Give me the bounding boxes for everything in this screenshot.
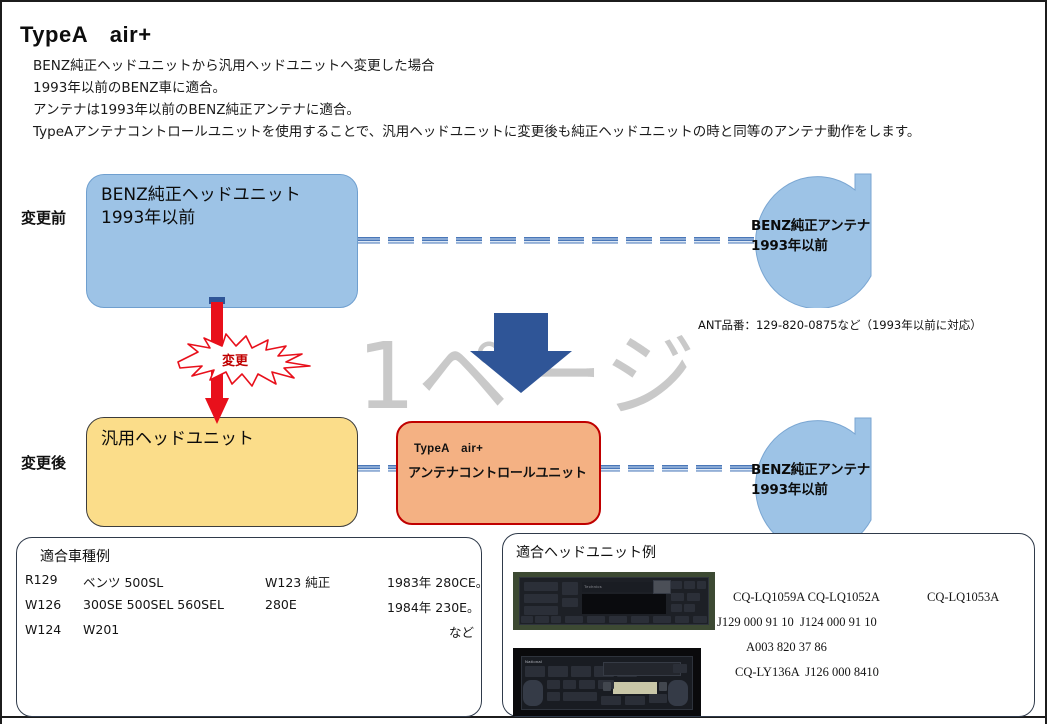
antenna-shape-bottom[interactable]: BENZ純正アンテナ 1993年以前 [735, 412, 885, 552]
car-cell-oem: W123 純正 [265, 572, 330, 591]
table-row: R129 ベンツ 500SL W123 純正 1983年 280CE。 [17, 572, 481, 596]
arrow-head [205, 398, 229, 424]
box-antenna-control-unit[interactable]: TypeA air+ アンテナコントロールユニット [396, 421, 601, 525]
lead-line-3: アンテナは1993年以前のBENZ純正アンテナに適合。 [33, 98, 360, 118]
antenna-part-number-note: ANT品番：129-820-0875など（1993年以前に対応） [698, 317, 982, 333]
box-oem-head-unit-label: BENZ純正ヘッドユニット 1993年以前 [101, 184, 301, 231]
car-cell-code: R129 [25, 572, 58, 587]
box-generic-head-unit[interactable]: 汎用ヘッドユニット [86, 417, 358, 527]
connector-oem-to-antenna [354, 236, 756, 245]
change-badge-label: 変更 [222, 350, 248, 369]
connector-generic-to-control [354, 464, 400, 473]
car-cell-model: ベンツ 500SL [83, 572, 163, 591]
unit-model-line-3: J129 000 91 10 J124 000 91 10 [717, 615, 877, 630]
antenna-top-label: BENZ純正アンテナ 1993年以前 [751, 216, 870, 257]
car-cell-model: W201 [83, 622, 119, 637]
car-cell-year: 1984年 230E。 [387, 597, 480, 616]
row-label-after: 変更後 [21, 452, 66, 473]
row-label-before: 変更前 [21, 207, 66, 228]
table-row: W124 W201 など [17, 622, 481, 646]
control-unit-product-label: TypeA air+ [414, 440, 483, 456]
antenna-shape-top[interactable]: BENZ純正アンテナ 1993年以前 [735, 168, 885, 308]
antenna-bottom-label: BENZ純正アンテナ 1993年以前 [751, 460, 870, 501]
panel-cars-title: 適合車種例 [40, 546, 110, 566]
page-canvas: TypeA air+ BENZ純正ヘッドユニットから汎用ヘッドユニットへ変更した… [0, 0, 1047, 724]
car-cell-code: W126 [25, 597, 61, 612]
change-starburst-badge: 変更 [174, 332, 314, 390]
unit-model-line-2: CQ-LQ1053A [927, 590, 999, 605]
panel-units-title: 適合ヘッドユニット例 [516, 542, 656, 562]
lead-line-4: TypeAアンテナコントロールユニットを使用することで、汎用ヘッドユニットに変更… [33, 120, 920, 140]
car-cell-oem: 280E [265, 597, 297, 612]
page-top-border [2, 0, 1047, 2]
car-cell-code: W124 [25, 622, 61, 637]
lead-line-1: BENZ純正ヘッドユニットから汎用ヘッドユニットへ変更した場合 [33, 54, 435, 74]
box-oem-head-unit[interactable]: BENZ純正ヘッドユニット 1993年以前 [86, 174, 358, 308]
page-title: TypeA air+ [20, 17, 152, 49]
unit-model-line-1: CQ-LQ1059A CQ-LQ1052A [733, 590, 880, 605]
technics-car-stereo-photo: Technics [513, 572, 715, 630]
car-cell-etc: など [449, 622, 474, 641]
box-generic-head-unit-label: 汎用ヘッドユニット [101, 428, 254, 451]
connector-control-to-antenna [594, 464, 754, 473]
car-cell-model: 300SE 500SEL 560SEL [83, 597, 224, 612]
lead-line-2: 1993年以前のBENZ車に適合。 [33, 76, 226, 96]
unit-model-line-4: A003 820 37 86 [746, 640, 827, 655]
down-arrow-icon [468, 313, 574, 395]
blue-down-arrow [468, 313, 574, 395]
panel-compatible-cars: 適合車種例 R129 ベンツ 500SL W123 純正 1983年 280CE… [16, 537, 482, 717]
unit-model-line-5: CQ-LY136A J126 000 8410 [735, 665, 879, 680]
car-cell-year: 1983年 280CE。 [387, 572, 488, 591]
national-car-stereo-photo: National [513, 648, 701, 716]
control-unit-name-label: アンテナコントロールユニット [408, 462, 587, 481]
table-row: W126 300SE 500SEL 560SEL 280E 1984年 230E… [17, 597, 481, 621]
